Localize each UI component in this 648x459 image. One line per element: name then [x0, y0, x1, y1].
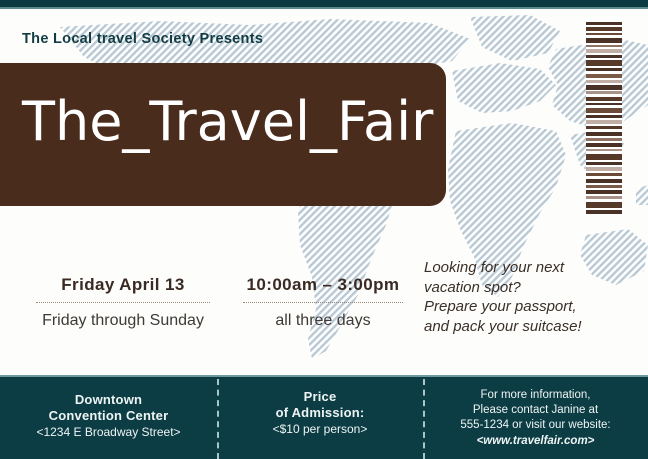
tagline-line-2: vacation spot?	[424, 278, 636, 298]
travel-fair-ticket: The Local travel Society Presents The_Tr…	[0, 0, 648, 459]
event-date-detail: Friday through Sunday	[30, 312, 216, 330]
venue-line-1: Downtown	[0, 392, 217, 408]
price-line-2: of Admission:	[217, 405, 423, 421]
venue-line-2: Convention Center	[0, 408, 217, 424]
price-amount: <$10 per person>	[217, 421, 423, 437]
event-date: Friday April 13	[30, 275, 216, 295]
top-edge-bar	[0, 0, 648, 7]
contact-website[interactable]: <www.travelfair.com>	[423, 433, 648, 449]
tagline-line-4: and pack your suitcase!	[424, 317, 636, 337]
footer-price: Price of Admission: <$10 per person>	[217, 375, 423, 459]
tagline-line-1: Looking for your next	[424, 258, 636, 278]
barcode-bar	[586, 210, 622, 214]
contact-line-3: 555-1234 or visit our website:	[423, 418, 648, 433]
page-title: The_Travel_Fair	[22, 91, 433, 153]
event-time-detail: all three days	[237, 312, 409, 330]
footer-contact: For more information, Please contact Jan…	[423, 375, 648, 459]
contact-line-1: For more information,	[423, 388, 648, 403]
footer-bar: Downtown Convention Center <1234 E Broad…	[0, 375, 648, 459]
time-box-divider	[243, 302, 403, 303]
presenter-line: The Local travel Society Presents	[22, 31, 263, 47]
corner-brackets-icon	[30, 254, 216, 346]
price-line-1: Price	[217, 389, 423, 405]
footer-venue: Downtown Convention Center <1234 E Broad…	[0, 375, 217, 459]
tagline-line-3: Prepare your passport,	[424, 297, 636, 317]
venue-address: <1234 E Broadway Street>	[0, 424, 217, 440]
time-box: 10:00am – 3:00pm all three days	[237, 254, 409, 346]
tagline: Looking for your next vacation spot? Pre…	[424, 258, 636, 336]
date-box: Friday April 13 Friday through Sunday	[30, 254, 216, 346]
event-time: 10:00am – 3:00pm	[237, 275, 409, 295]
corner-brackets-icon	[237, 254, 409, 346]
barcode-icon	[586, 22, 622, 214]
contact-line-2: Please contact Janine at	[423, 403, 648, 418]
date-box-divider	[36, 302, 210, 303]
title-band: The_Travel_Fair	[0, 63, 446, 206]
